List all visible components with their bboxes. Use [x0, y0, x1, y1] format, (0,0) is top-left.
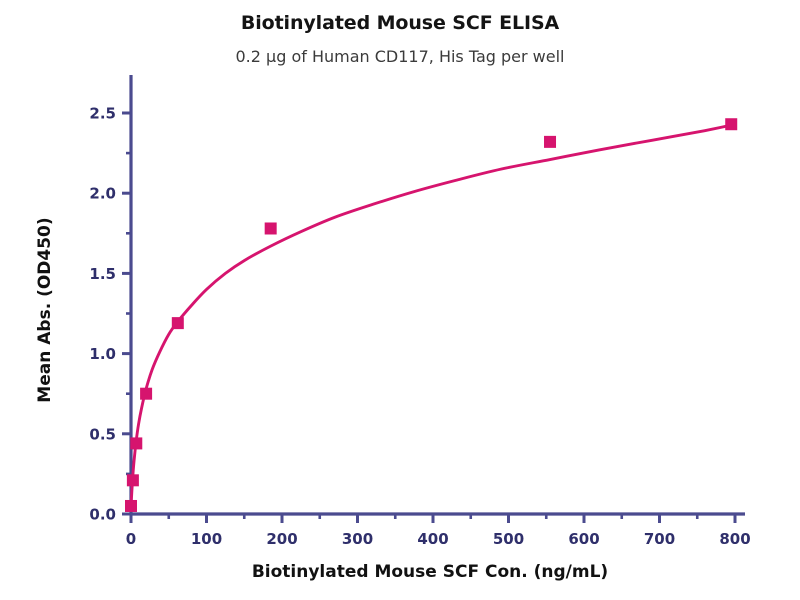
svg-text:400: 400	[417, 530, 448, 548]
svg-text:300: 300	[342, 530, 373, 548]
svg-text:0.0: 0.0	[89, 506, 116, 524]
axis-minor-ticks	[126, 153, 697, 519]
y-tick-labels: 0.00.51.01.52.02.5	[89, 105, 116, 524]
svg-text:800: 800	[719, 530, 750, 548]
elisa-chart-figure: Biotinylated Mouse SCF ELISA 0.2 µg of H…	[0, 0, 800, 600]
svg-text:600: 600	[568, 530, 599, 548]
svg-text:100: 100	[191, 530, 222, 548]
svg-text:500: 500	[493, 530, 524, 548]
fit-curve	[131, 124, 735, 506]
axis-major-ticks	[122, 113, 735, 523]
svg-text:1.5: 1.5	[89, 265, 116, 283]
svg-text:200: 200	[266, 530, 297, 548]
svg-text:2.5: 2.5	[89, 105, 116, 123]
plot-area: 0100200300400500600700800 0.00.51.01.52.…	[0, 0, 800, 600]
svg-text:700: 700	[644, 530, 675, 548]
data-point-markers	[126, 119, 737, 512]
svg-text:2.0: 2.0	[89, 185, 116, 203]
x-tick-labels: 0100200300400500600700800	[126, 530, 751, 548]
svg-text:0.5: 0.5	[89, 425, 116, 443]
svg-text:0: 0	[126, 530, 136, 548]
svg-text:1.0: 1.0	[89, 345, 116, 363]
